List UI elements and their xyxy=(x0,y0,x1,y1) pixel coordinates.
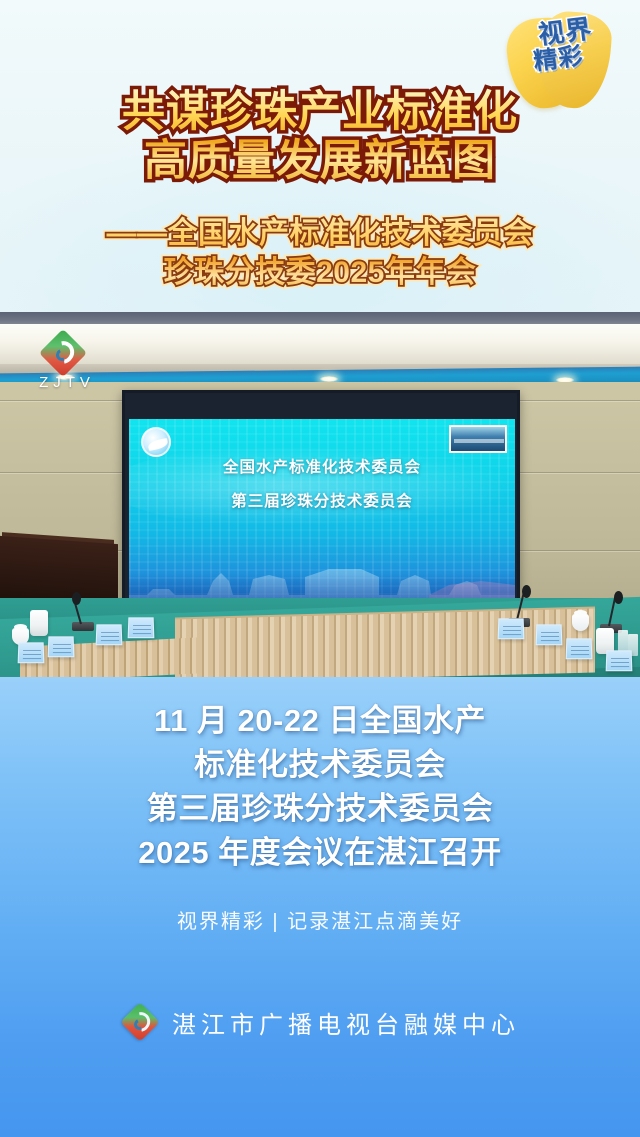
led-screen: 全国水产标准化技术委员会 第三届珍珠分技术委员会 xyxy=(129,419,515,603)
bottom-headline-line2: 标准化技术委员会 xyxy=(0,743,640,787)
bottom-blue-panel: 11 月 20-22 日全国水产 标准化技术委员会 第三届珍珠分技术委员会 20… xyxy=(0,677,640,1137)
bottom-headline: 11 月 20-22 日全国水产 标准化技术委员会 第三届珍珠分技术委员会 20… xyxy=(0,699,640,875)
tea-cup xyxy=(572,614,589,631)
subtitle-line1: ——全国水产标准化技术委员会 xyxy=(0,214,640,253)
name-card-text xyxy=(53,642,71,653)
main-title: 共谋珍珠产业标准化 高质量发展新蓝图 xyxy=(0,88,640,186)
fishery-emblem-icon xyxy=(141,427,171,457)
poster-root: 视界 精彩 共谋珍珠产业标准化 高质量发展新蓝图 共谋珍珠产业标准化 高质量发展… xyxy=(0,0,640,1137)
microphone-head xyxy=(522,585,531,598)
head-table-skirt xyxy=(175,609,595,678)
name-card-text xyxy=(503,624,521,635)
water-pitcher xyxy=(30,610,48,636)
bottom-headline-line4: 2025 年度会议在湛江召开 xyxy=(0,831,640,875)
led-screen-frame: 全国水产标准化技术委员会 第三届珍珠分技术委员会 xyxy=(122,390,520,610)
subtitle: ——全国水产标准化技术委员会 珍珠分技委2025年年会 xyxy=(0,214,640,292)
header-section: 视界 精彩 共谋珍珠产业标准化 高质量发展新蓝图 共谋珍珠产业标准化 高质量发展… xyxy=(0,0,640,312)
name-card-text xyxy=(571,644,589,655)
name-card-text xyxy=(541,630,559,641)
zjtv-logo-icon xyxy=(120,1002,160,1042)
name-card-text xyxy=(611,656,629,667)
main-title-line2: 高质量发展新蓝图 xyxy=(0,137,640,186)
name-card-text xyxy=(23,648,41,659)
conference-photo: ZJTV 全国水产标准化技术委员会 第三届珍珠分技术委员会 xyxy=(0,312,640,678)
microphone-base xyxy=(72,622,94,631)
zjtv-watermark: ZJTV xyxy=(36,334,98,396)
main-title-line1: 共谋珍珠产业标准化 xyxy=(0,88,640,137)
footer-branding: 湛江市广播电视台融媒中心 xyxy=(0,1002,640,1042)
led-screen-line2: 第三届珍珠分技术委员会 xyxy=(129,489,515,511)
microphone-head xyxy=(72,592,81,605)
name-card-text xyxy=(133,623,151,634)
bottom-headline-line3: 第三届珍珠分技术委员会 xyxy=(0,787,640,831)
screen-photo-thumbnail xyxy=(449,425,507,453)
led-screen-line1: 全国水产标准化技术委员会 xyxy=(129,455,515,477)
zjtv-watermark-label: ZJTV xyxy=(32,374,102,391)
footer-station-name: 湛江市广播电视台融媒中心 xyxy=(172,1005,520,1040)
subtitle-line2: 珍珠分技委2025年年会 xyxy=(0,253,640,292)
water-glass xyxy=(618,630,628,652)
tagline: 视界精彩 | 记录湛江点滴美好 xyxy=(0,905,640,934)
name-card-text xyxy=(101,630,119,641)
bottom-headline-line1: 11 月 20-22 日全国水产 xyxy=(0,699,640,743)
microphone-head xyxy=(614,591,623,604)
